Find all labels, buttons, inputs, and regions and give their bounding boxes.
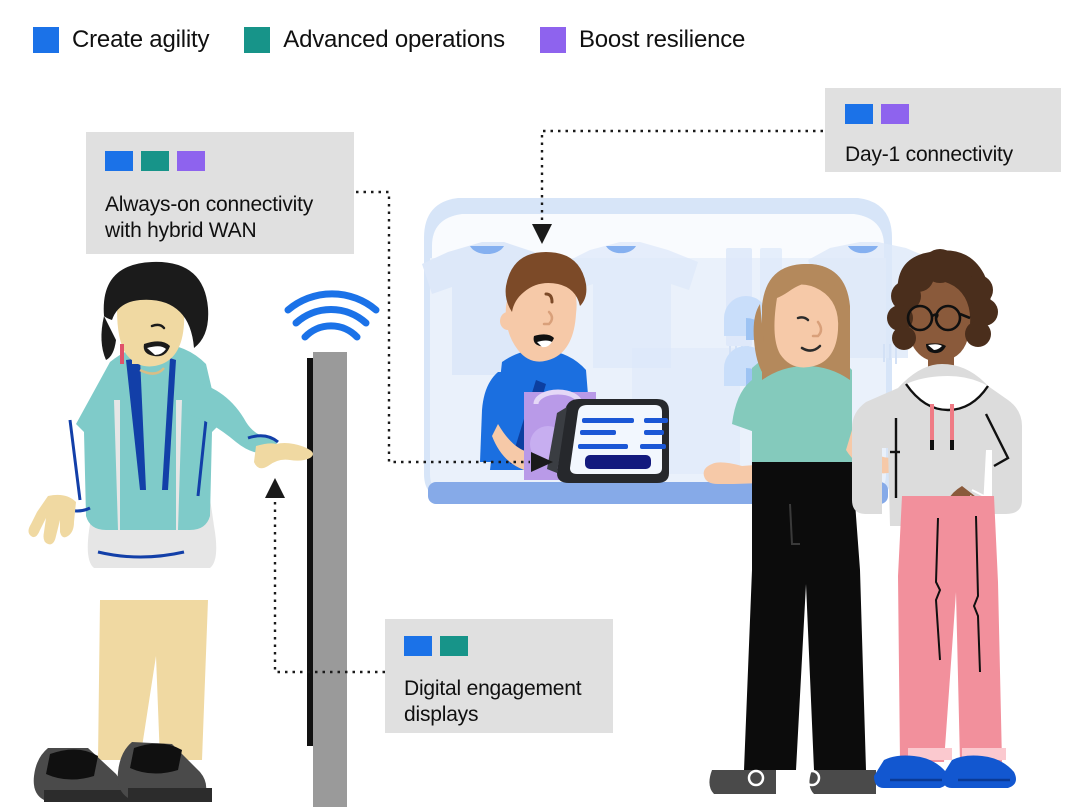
infographic-canvas: Create agility Advanced operations Boost… (0, 0, 1080, 807)
callout-day-1-swatches (845, 104, 1061, 124)
callout-digital-label: Digital engagement displays (404, 676, 613, 728)
callout-swatch-create-agility (404, 636, 432, 656)
callout-swatch-create-agility (845, 104, 873, 124)
callout-swatch-create-agility (105, 151, 133, 171)
callout-swatch-boost-resilience (881, 104, 909, 124)
digital-signage-kiosk[interactable] (307, 352, 347, 807)
callout-day-1-label: Day-1 connectivity (845, 142, 1061, 168)
callout-swatch-boost-resilience (177, 151, 205, 171)
shopper-pointing (29, 262, 314, 802)
point-of-sale-tablet[interactable] (547, 399, 669, 483)
callout-digital-swatches (404, 636, 613, 656)
arrowhead-digital-engagement (265, 478, 285, 498)
callout-always-on-label: Always-on connectivity with hybrid WAN (105, 192, 354, 244)
callout-swatch-advanced-operations (440, 636, 468, 656)
callout-always-on-connectivity[interactable]: Always-on connectivity with hybrid WAN (86, 132, 354, 254)
callout-day-1-connectivity[interactable]: Day-1 connectivity (825, 88, 1061, 172)
kiosk-edge (307, 358, 313, 746)
wifi-icon (288, 294, 376, 337)
callout-digital-engagement-displays[interactable]: Digital engagement displays (385, 619, 613, 733)
callout-swatch-advanced-operations (141, 151, 169, 171)
callout-always-on-swatches (105, 151, 354, 171)
tablet-primary-button[interactable] (585, 455, 651, 469)
